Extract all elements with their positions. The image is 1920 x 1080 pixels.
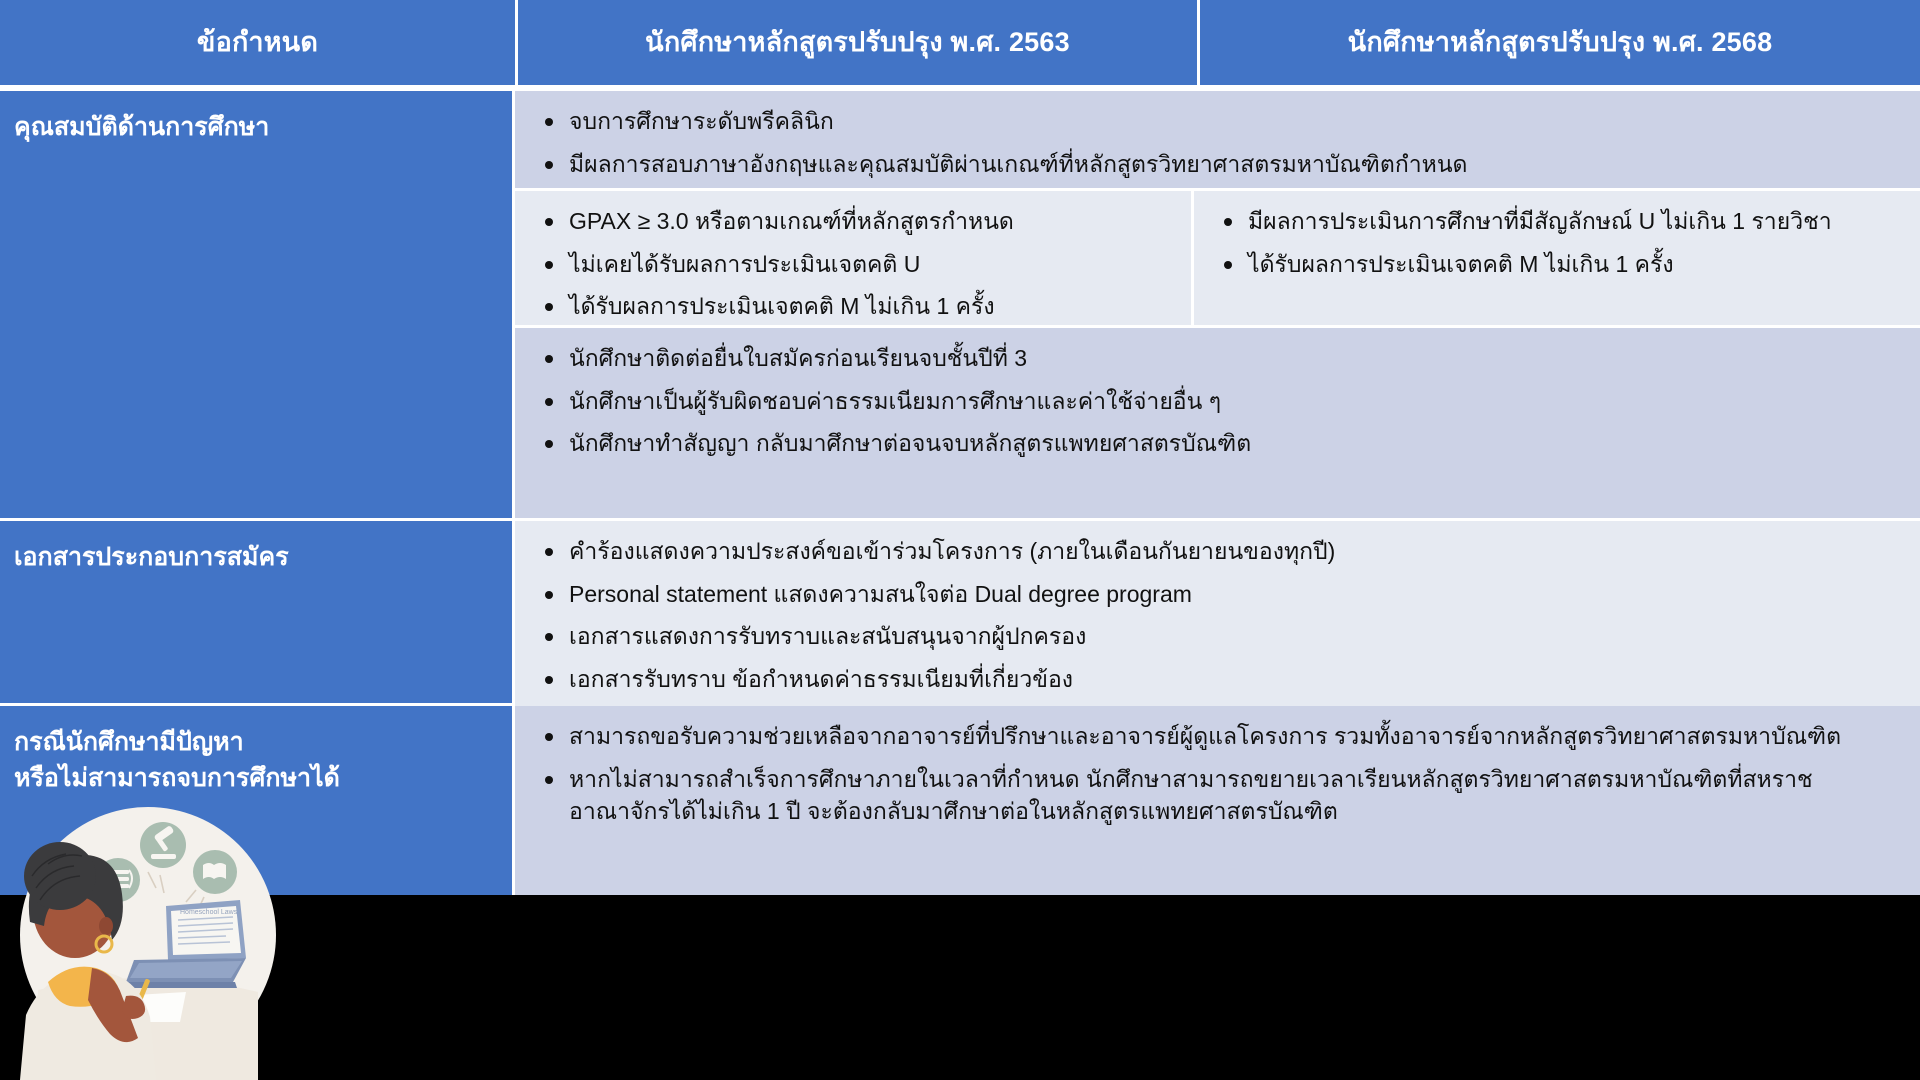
- bullet-list: คำร้องแสดงความประสงค์ขอเข้าร่วมโครงการ (…: [539, 535, 1894, 696]
- table-header-row: ข้อกำหนด นักศึกษาหลักสูตรปรับปรุง พ.ศ. 2…: [0, 0, 1920, 85]
- list-item: คำร้องแสดงความประสงค์ขอเข้าร่วมโครงการ (…: [539, 535, 1894, 568]
- row-content: สามารถขอรับความช่วยเหลือจากอาจารย์ที่ปรึ…: [515, 706, 1920, 895]
- person-body: [20, 971, 156, 1080]
- person-shirt: [48, 967, 120, 1007]
- row-label-text: คุณสมบัติด้านการศึกษา: [14, 113, 269, 141]
- header-label-2568: นักศึกษาหลักสูตรปรับปรุง พ.ศ. 2568: [1348, 26, 1773, 60]
- table-row: คุณสมบัติด้านการศึกษา จบการศึกษาระดับพรี…: [0, 91, 1920, 521]
- list-item: นักศึกษาติดต่อยื่นใบสมัครก่อนเรียนจบชั้น…: [539, 342, 1894, 375]
- row-label-text: เอกสารประกอบการสมัคร: [14, 543, 289, 571]
- comparison-table: ข้อกำหนด นักศึกษาหลักสูตรปรับปรุง พ.ศ. 2…: [0, 0, 1920, 895]
- header-label-requirement: ข้อกำหนด: [197, 26, 318, 60]
- header-cell-requirement: ข้อกำหนด: [0, 0, 515, 85]
- list-item: GPAX ≥ 3.0 หรือตามเกณฑ์ที่หลักสูตรกำหนด: [539, 205, 1165, 238]
- row-label-student-problem-case: กรณีนักศึกษามีปัญหา หรือไม่สามารถจบการศึ…: [0, 706, 515, 895]
- earring: [96, 936, 112, 952]
- list-item: มีผลการสอบภาษาอังกฤษและคุณสมบัติผ่านเกณฑ…: [539, 148, 1894, 181]
- sub-row-split: GPAX ≥ 3.0 หรือตามเกณฑ์ที่หลักสูตรกำหนด …: [515, 191, 1920, 328]
- row-label-application-documents: เอกสารประกอบการสมัคร: [0, 521, 515, 703]
- table-row: กรณีนักศึกษามีปัญหา หรือไม่สามารถจบการศึ…: [0, 706, 1920, 895]
- slide-canvas: ข้อกำหนด นักศึกษาหลักสูตรปรับปรุง พ.ศ. 2…: [0, 0, 1920, 1080]
- list-item: ไม่เคยได้รับผลการประเมินเจตคติ U: [539, 248, 1165, 281]
- cell-span-both: คำร้องแสดงความประสงค์ขอเข้าร่วมโครงการ (…: [515, 521, 1920, 710]
- list-item: Personal statement แสดงความสนใจต่อ Dual …: [539, 578, 1894, 611]
- row-label-line-2: หรือไม่สามารถจบการศึกษาได้: [14, 760, 498, 796]
- person-hand: [122, 996, 145, 1019]
- list-item: เอกสารแสดงการรับทราบและสนับสนุนจากผู้ปกค…: [539, 620, 1894, 653]
- desk-shape: [38, 978, 258, 1080]
- list-item: จบการศึกษาระดับพรีคลินิก: [539, 105, 1894, 138]
- row-content: จบการศึกษาระดับพรีคลินิก มีผลการสอบภาษาอ…: [515, 91, 1920, 518]
- screen-text-lines: [178, 917, 233, 944]
- cell-span-both: สามารถขอรับความช่วยเหลือจากอาจารย์ที่ปรึ…: [515, 706, 1920, 895]
- list-item: สามารถขอรับความช่วยเหลือจากอาจารย์ที่ปรึ…: [539, 720, 1894, 753]
- paper-sheet: [112, 992, 186, 1022]
- sub-row: จบการศึกษาระดับพรีคลินิก มีผลการสอบภาษาอ…: [515, 91, 1920, 191]
- list-item: เอกสารรับทราบ ข้อกำหนดค่าธรรมเนียมที่เกี…: [539, 663, 1894, 696]
- cell-2563: GPAX ≥ 3.0 หรือตามเกณฑ์ที่หลักสูตรกำหนด …: [515, 191, 1194, 325]
- header-cell-curriculum-2568: นักศึกษาหลักสูตรปรับปรุง พ.ศ. 2568: [1200, 0, 1920, 85]
- header-label-2563: นักศึกษาหลักสูตรปรับปรุง พ.ศ. 2563: [645, 26, 1070, 60]
- bullet-list: สามารถขอรับความช่วยเหลือจากอาจารย์ที่ปรึ…: [539, 720, 1894, 828]
- person-arm: [88, 968, 138, 1042]
- sub-row: นักศึกษาติดต่อยื่นใบสมัครก่อนเรียนจบชั้น…: [515, 328, 1920, 518]
- table-body: คุณสมบัติด้านการศึกษา จบการศึกษาระดับพรี…: [0, 91, 1920, 895]
- bullet-list-2568: มีผลการประเมินการศึกษาที่มีสัญลักษณ์ U ไ…: [1218, 205, 1894, 280]
- sub-row: คำร้องแสดงความประสงค์ขอเข้าร่วมโครงการ (…: [515, 521, 1920, 710]
- header-cell-curriculum-2563: นักศึกษาหลักสูตรปรับปรุง พ.ศ. 2563: [518, 0, 1197, 85]
- list-item: หากไม่สามารถสำเร็จการศึกษาภายในเวลาที่กำ…: [539, 763, 1894, 828]
- pencil: [132, 978, 150, 1012]
- table-row: เอกสารประกอบการสมัคร คำร้องแสดงความประสง…: [0, 521, 1920, 706]
- cell-span-both: จบการศึกษาระดับพรีคลินิก มีผลการสอบภาษาอ…: [515, 91, 1920, 188]
- cell-span-both: นักศึกษาติดต่อยื่นใบสมัครก่อนเรียนจบชั้น…: [515, 328, 1920, 518]
- list-item: ได้รับผลการประเมินเจตคติ M ไม่เกิน 1 ครั…: [539, 290, 1165, 323]
- person-ear: [99, 917, 113, 935]
- sub-row: สามารถขอรับความช่วยเหลือจากอาจารย์ที่ปรึ…: [515, 706, 1920, 895]
- list-item: มีผลการประเมินการศึกษาที่มีสัญลักษณ์ U ไ…: [1218, 205, 1894, 238]
- list-item: นักศึกษาทำสัญญา กลับมาศึกษาต่อจนจบหลักสู…: [539, 427, 1894, 460]
- row-label-education-qualification: คุณสมบัติด้านการศึกษา: [0, 91, 515, 518]
- list-item: นักศึกษาเป็นผู้รับผิดชอบค่าธรรมเนียมการศ…: [539, 385, 1894, 418]
- bullet-list: นักศึกษาติดต่อยื่นใบสมัครก่อนเรียนจบชั้น…: [539, 342, 1894, 460]
- row-label-line-1: กรณีนักศึกษามีปัญหา: [14, 724, 498, 760]
- row-content: คำร้องแสดงความประสงค์ขอเข้าร่วมโครงการ (…: [515, 521, 1920, 703]
- list-item: ได้รับผลการประเมินเจตคติ M ไม่เกิน 1 ครั…: [1218, 248, 1894, 281]
- cell-2568: มีผลการประเมินการศึกษาที่มีสัญลักษณ์ U ไ…: [1194, 191, 1920, 325]
- laptop-screen-text: Homeschool Laws: [180, 909, 238, 916]
- laptop: Homeschool Laws: [122, 900, 246, 988]
- bullet-list-2563: GPAX ≥ 3.0 หรือตามเกณฑ์ที่หลักสูตรกำหนด …: [539, 205, 1165, 323]
- bullet-list: จบการศึกษาระดับพรีคลินิก มีผลการสอบภาษาอ…: [539, 105, 1894, 180]
